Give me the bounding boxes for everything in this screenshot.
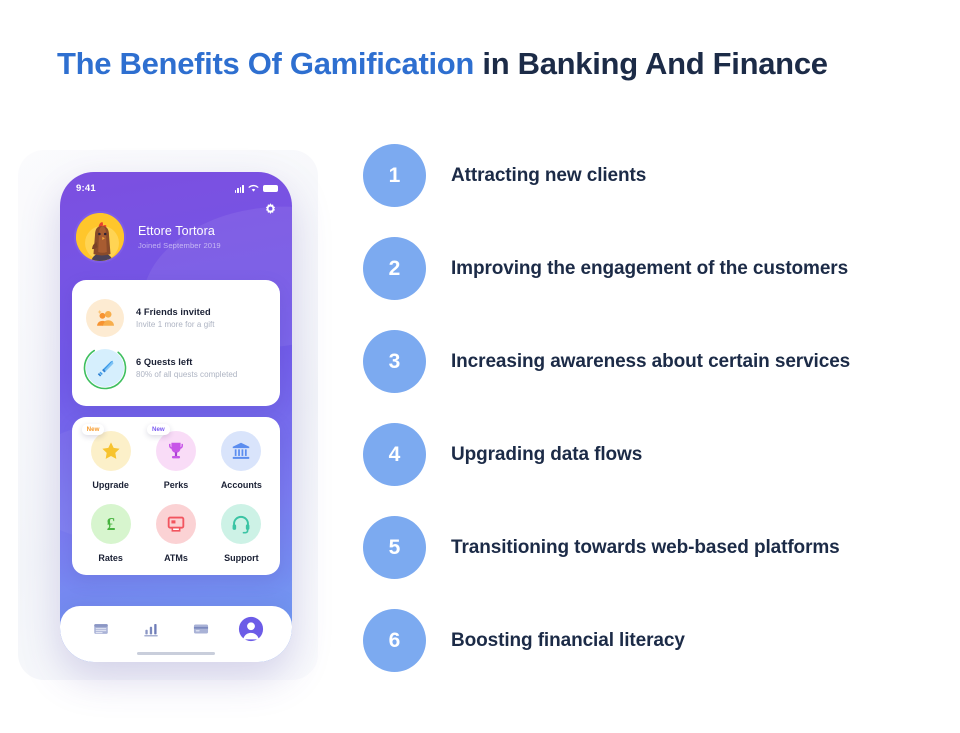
shortcut-accounts[interactable]: Accounts <box>209 431 274 490</box>
card-icon <box>192 620 210 638</box>
shortcut-perks[interactable]: New Perks <box>143 431 208 490</box>
gear-icon[interactable] <box>263 202 278 217</box>
profile-header: Ettore Tortora Joined September 2019 <box>60 198 292 270</box>
stat-text: 4 Friends invited Invite 1 more for a gi… <box>136 307 215 330</box>
chart-icon <box>142 620 160 638</box>
benefit-label: Upgrading data flows <box>451 444 642 466</box>
nav-item-profile[interactable] <box>234 612 268 646</box>
benefit-number-badge: 3 <box>363 330 426 393</box>
chicken-avatar <box>74 211 126 263</box>
benefit-number-badge: 1 <box>363 144 426 207</box>
shortcut-label: Rates <box>98 553 123 563</box>
feed-icon <box>92 620 110 638</box>
trophy-icon <box>165 440 187 462</box>
shortcut-support[interactable]: Support <box>209 504 274 563</box>
benefit-label: Increasing awareness about certain servi… <box>451 351 850 373</box>
infographic-page: The Benefits Of Gamification in Banking … <box>0 0 960 733</box>
status-bar-icons <box>235 184 278 193</box>
nav-item-chart[interactable] <box>134 612 168 646</box>
list-item: 1 Attracting new clients <box>363 144 923 207</box>
svg-text:£: £ <box>106 514 115 534</box>
bank-icon <box>230 440 252 462</box>
benefit-number-badge: 4 <box>363 423 426 486</box>
new-badge: New <box>147 424 170 435</box>
shortcut-upgrade[interactable]: New Upgrade <box>78 431 143 490</box>
stat-row-quests[interactable]: 6 Quests left 80% of all quests complete… <box>72 343 280 393</box>
list-item: 6 Boosting financial literacy <box>363 609 923 672</box>
shortcut-rates[interactable]: £ Rates <box>78 504 143 563</box>
benefit-label: Boosting financial literacy <box>451 630 685 652</box>
shortcut-label: Upgrade <box>92 480 129 490</box>
stat-subtitle: Invite 1 more for a gift <box>136 320 215 329</box>
benefit-label: Transitioning towards web-based platform… <box>451 537 840 559</box>
page-title-dark: in Banking And Finance <box>474 46 828 81</box>
list-item: 5 Transitioning towards web-based platfo… <box>363 516 923 579</box>
profile-joined-date: Joined September 2019 <box>138 241 221 250</box>
shortcut-label: Accounts <box>221 480 262 490</box>
headset-icon <box>230 513 252 535</box>
page-title-accent: The Benefits Of Gamification <box>57 46 474 81</box>
shortcuts-card: New Upgrade New <box>72 417 280 575</box>
shortcut-label: Support <box>224 553 259 563</box>
profile-icon <box>238 616 264 642</box>
pound-icon: £ <box>100 513 122 535</box>
stats-card: 4 Friends invited Invite 1 more for a gi… <box>72 280 280 406</box>
shortcut-atms[interactable]: ATMs <box>143 504 208 563</box>
list-item: 2 Improving the engagement of the custom… <box>363 237 923 300</box>
stat-text: 6 Quests left 80% of all quests complete… <box>136 357 237 380</box>
shortcut-label: ATMs <box>164 553 188 563</box>
benefit-number-badge: 6 <box>363 609 426 672</box>
benefit-label: Improving the engagement of the customer… <box>451 258 848 280</box>
phone-mockup-stage: 9:41 <box>18 150 318 680</box>
stat-row-friends[interactable]: 4 Friends invited Invite 1 more for a gi… <box>72 293 280 343</box>
home-indicator <box>137 652 215 655</box>
benefit-label: Attracting new clients <box>451 165 646 187</box>
page-title: The Benefits Of Gamification in Banking … <box>57 46 828 82</box>
status-bar-clock: 9:41 <box>76 183 96 194</box>
stat-title: 6 Quests left <box>136 357 237 367</box>
status-bar: 9:41 <box>60 172 292 198</box>
profile-text: Ettore Tortora Joined September 2019 <box>138 224 221 250</box>
friends-icon <box>86 299 124 337</box>
phone-mockup: 9:41 <box>60 172 292 662</box>
signal-bars-icon <box>235 185 244 193</box>
stat-subtitle: 80% of all quests completed <box>136 370 237 379</box>
benefit-number-badge: 2 <box>363 237 426 300</box>
sword-icon <box>86 349 124 387</box>
nav-item-card[interactable] <box>184 612 218 646</box>
benefit-number-badge: 5 <box>363 516 426 579</box>
shortcut-label: Perks <box>164 480 189 490</box>
list-item: 4 Upgrading data flows <box>363 423 923 486</box>
wifi-icon <box>248 184 259 193</box>
shortcuts-grid: New Upgrade New <box>78 431 274 563</box>
benefits-list: 1 Attracting new clients 2 Improving the… <box>363 144 923 672</box>
list-item: 3 Increasing awareness about certain ser… <box>363 330 923 393</box>
profile-name: Ettore Tortora <box>138 224 221 238</box>
new-badge: New <box>82 424 105 435</box>
stat-title: 4 Friends invited <box>136 307 215 317</box>
battery-icon <box>263 185 278 193</box>
nav-item-feed[interactable] <box>84 612 118 646</box>
atm-icon <box>165 513 187 535</box>
star-icon <box>100 440 122 462</box>
